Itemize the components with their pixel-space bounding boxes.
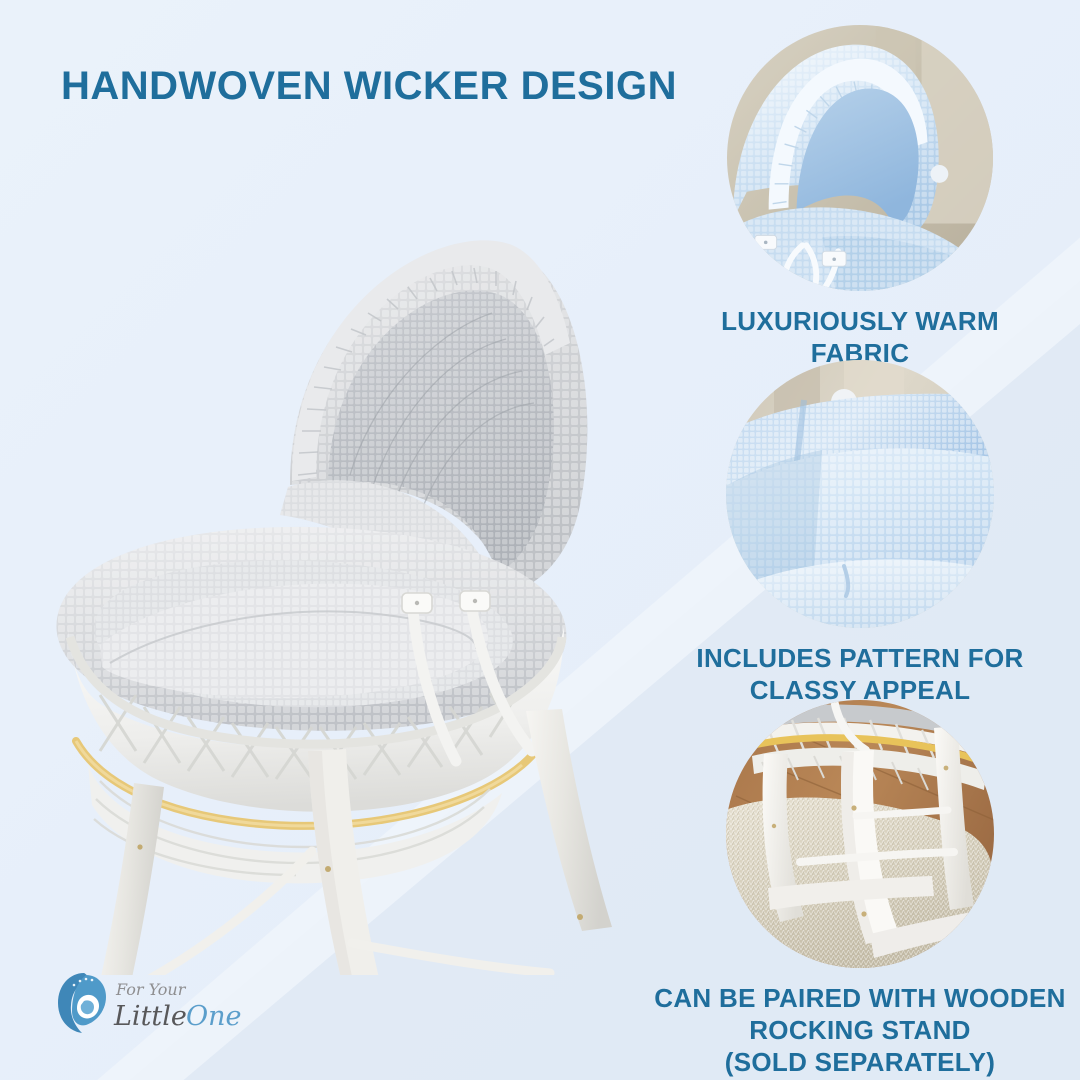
feature-block-2: INCLUDES PATTERN FOR CLASSY APPEAL (660, 360, 1060, 706)
logo-line-1: For Your (115, 980, 187, 999)
feature-block-1: LUXURIOUSLY WARM FABRIC (660, 25, 1060, 369)
feature-caption-3-line-2: ROCKING STAND (650, 1014, 1070, 1046)
page-title: HANDWOVEN WICKER DESIGN (61, 64, 677, 109)
feature-caption-2-line-1: INCLUDES PATTERN FOR (660, 642, 1060, 674)
mother-and-baby-icon (58, 973, 106, 1033)
feature-caption-1-line-1: LUXURIOUSLY WARM (660, 305, 1060, 337)
blue-waffle-fabric-texture-closeup-photo (726, 360, 994, 628)
promo-graphic-canvas: HANDWOVEN WICKER DESIGN (0, 0, 1080, 1080)
feature-caption-2: INCLUDES PATTERN FOR CLASSY APPEAL (660, 642, 1060, 706)
feature-caption-3-line-1: CAN BE PAIRED WITH WOODEN (650, 982, 1070, 1014)
white-wooden-rocking-stand-on-rug-photo (726, 700, 994, 968)
logo-line-2-part-1: Little (113, 1001, 187, 1032)
feature-block-3: CAN BE PAIRED WITH WOODEN ROCKING STAND … (660, 700, 1060, 1078)
logo-line-2-part-2: One (186, 1001, 242, 1032)
blue-waffle-hood-closeup-photo (727, 25, 993, 291)
brand-logo: For Your Little One (48, 963, 248, 1041)
feature-caption-3-line-3: (SOLD SEPARATELY) (650, 1046, 1070, 1078)
hero-product-image (40, 175, 650, 975)
feature-caption-3: CAN BE PAIRED WITH WOODEN ROCKING STAND … (650, 982, 1070, 1078)
